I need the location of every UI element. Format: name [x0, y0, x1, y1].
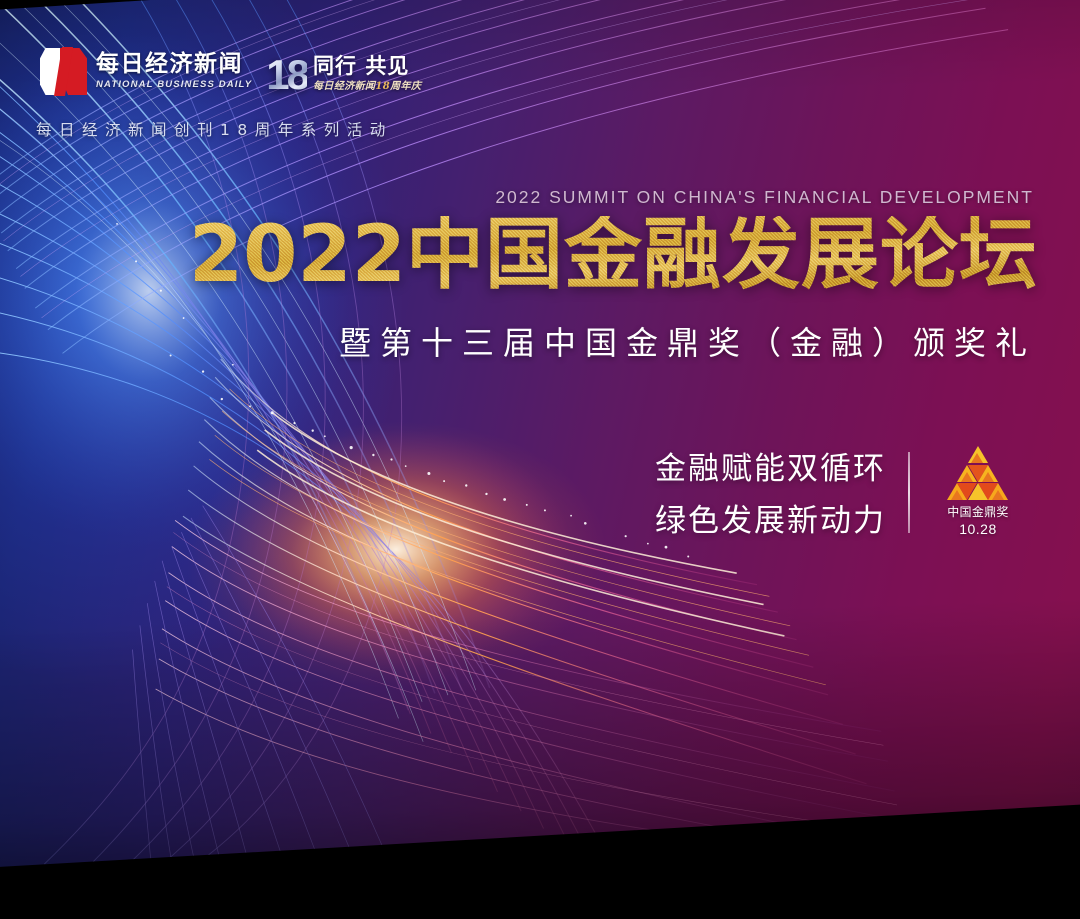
slogan-block: 金融赋能双循环 绿色发展新动力 — [655, 443, 886, 547]
pyramid-tri-r1-inner — [971, 453, 983, 463]
anniversary-18-logo: 18 同行 共见 每日经济新闻18周年庆 — [266, 56, 421, 94]
title-subtitle: 暨第十三届中国金鼎奖（金融）颁奖礼 — [339, 318, 1036, 364]
anniversary-number: 18 — [266, 57, 307, 94]
nbd-name-en: NATIONAL BUSINESS DAILY — [96, 80, 252, 90]
nbd-logo-text: 每日经济新闻 NATIONAL BUSINESS DAILY — [96, 53, 252, 90]
pyramid-tri-r3-5-inner — [992, 490, 1004, 500]
title-main-cn: 中国金融发展论坛 — [406, 210, 1038, 300]
nbd-name-cn: 每日经济新闻 — [96, 53, 252, 76]
nbd-logo: 每日经济新闻 NATIONAL BUSINESS DAILY — [40, 48, 252, 95]
title-main-year: 2022 — [189, 210, 406, 300]
anniversary-text-block: 同行 共见 每日经济新闻18周年庆 — [313, 56, 421, 94]
title-english: 2022 SUMMIT ON CHINA'S FINANCIAL DEVELOP… — [495, 187, 1034, 208]
anniversary-slogan: 同行 共见 — [313, 56, 421, 77]
anniversary-sub-tail: 周年庆 — [390, 81, 421, 92]
award-emblem-block: 中国金鼎奖 10.28 — [943, 446, 1013, 537]
pyramid-tri-r3-1-inner — [951, 490, 963, 500]
series-activity-line: 每日经济新闻创刊18周年系列活动 — [36, 118, 393, 140]
award-date: 10.28 — [943, 521, 1013, 537]
anniversary-sub-cn: 每日经济新闻 — [313, 81, 375, 92]
golden-pyramid-icon — [947, 446, 1009, 500]
award-name: 中国金鼎奖 — [943, 503, 1013, 520]
poster-stage: 每日经济新闻 NATIONAL BUSINESS DAILY 18 同行 共见 … — [0, 0, 1080, 919]
pyramid-tri-r2-1-inner — [961, 472, 973, 482]
header-logo-row: 每日经济新闻 NATIONAL BUSINESS DAILY 18 同行 共见 … — [40, 48, 421, 95]
slogan-divider — [908, 452, 910, 533]
nbd-n-mark-icon — [40, 48, 87, 95]
slogan-line-2: 绿色发展新动力 — [655, 495, 886, 547]
anniversary-subline: 每日经济新闻18周年庆 — [313, 82, 421, 92]
slogan-line-1: 金融赋能双循环 — [655, 443, 886, 495]
pyramid-tri-r2-3-inner — [982, 472, 994, 482]
title-main: 2022中国金融发展论坛 — [189, 216, 1038, 294]
anniversary-sub-years: 18 — [375, 81, 390, 92]
